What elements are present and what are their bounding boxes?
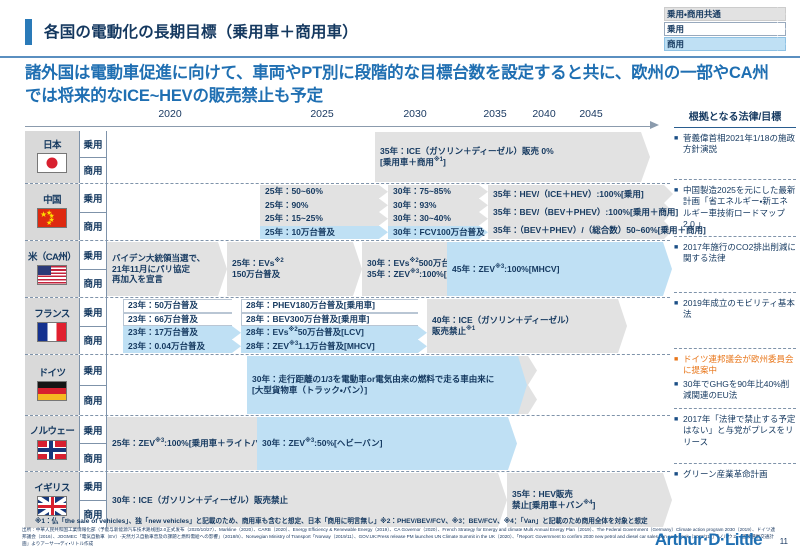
bar-label: 23年：17万台普及: [128, 326, 231, 340]
country-cell: 中国★★★★★: [25, 184, 79, 240]
type-label-commercial: 商用: [80, 158, 106, 184]
target-bar: 28年：EVs※250万台普及[LCV]: [241, 326, 427, 340]
legal-basis-item: ■ドイツ連邦議会が欧州委員会に提案中: [674, 354, 796, 377]
target-bar: 23年：66万台普及: [123, 313, 241, 327]
legal-basis-text: 2017年施行のCO2排出削減に関する法律: [683, 242, 796, 265]
bar-arrow-icon: [418, 340, 427, 354]
legend-item-comm: 商用: [664, 37, 794, 51]
page-title: 各国の電動化の長期目標（乗用車＋商用車）: [44, 20, 358, 42]
bar-label-line: 30年：ZEV※3:50%[ヘビーバン]: [262, 438, 507, 449]
bar-label-line: 23年：66万台普及: [128, 314, 231, 325]
bar-label: 28年：ZEV※31.1万台普及[MHCV]: [246, 340, 417, 354]
bar-label: 35年：（BEV＋PHEV）/（総合数）50~60%[乗用＋商用]: [493, 221, 663, 239]
bar-arrow-icon: [379, 185, 388, 199]
bar-label-line: 30年：75~85%: [393, 186, 478, 197]
target-bar: 28年：PHEV180万台普及[乗用車]: [241, 299, 427, 313]
bar-label: 30年：30~40%: [393, 212, 478, 226]
bar-label: 25年：50~60%: [265, 185, 378, 199]
target-bar: 35年：（BEV＋PHEV）/（総合数）50~60%[乗用＋商用]: [488, 221, 673, 239]
legal-basis-group: ■2017年「法律で禁止する予定はない」と与党がプレスをリリース: [674, 409, 796, 464]
bar-arrow-icon: [479, 212, 488, 226]
type-label-commercial: 商用: [80, 386, 106, 416]
type-label-commercial: 商用: [80, 444, 106, 471]
bar-arrow-icon: [479, 185, 488, 199]
legend-item-common: 乗用・商用共通: [664, 7, 794, 21]
target-bar: 35年：BEV/（BEV＋PHEV）:100%[乗用＋商用]: [488, 203, 673, 221]
flag-icon-fr: [37, 322, 67, 342]
timeline-track: バイデン大統領当選で、21年11月にパリ協定再加入を宣言25年：EVs※2150…: [107, 241, 670, 297]
bar-label-line: 30年：93%: [393, 200, 478, 211]
bar-label: 25年：90%: [265, 199, 378, 213]
flag-icon-gb: [37, 496, 67, 516]
type-label-passenger: 乗用: [80, 131, 106, 158]
axis-arrow-icon: [650, 121, 659, 129]
bar-arrow-icon: [232, 313, 241, 327]
bar-label: 28年：EVs※250万台普及[LCV]: [246, 326, 417, 340]
bar-arrow-icon: [379, 212, 388, 226]
bar-label: 45年：ZEV※3:100%[MHCV]: [452, 242, 662, 296]
bar-arrow-icon: [232, 340, 241, 354]
legend-item-pass: 乗用: [664, 22, 794, 36]
bar-label: 30年：93%: [393, 199, 478, 213]
legal-basis-group: ■ドイツ連邦議会が欧州委員会に提案中■30年でGHGを90年比40%削減関連のE…: [674, 349, 796, 409]
legal-basis-group: ■中国製造2025を元にした最新計画「省エネルギー・新エネルギー車技術ロードマッ…: [674, 180, 796, 237]
bar-label-line: 21年11月にパリ協定: [112, 264, 217, 275]
bar-label: 28年：BEV300万台普及[乗用車]: [246, 313, 417, 327]
bar-label-line: 30年：30~40%: [393, 213, 478, 224]
legal-basis-groups: ■菅義偉首相2021年1/18の施政方針演説■中国製造2025を元にした最新計画…: [674, 128, 796, 519]
flag-icon-no: [37, 440, 67, 460]
bar-label-line: 150万台普及: [232, 269, 352, 280]
bullet-square-icon: ■: [674, 133, 683, 156]
country-name: 中国: [43, 196, 61, 206]
target-bar: 25年：90%: [260, 199, 388, 213]
target-bar: 30年：30~40%: [388, 212, 488, 226]
flag-icon-de: [37, 381, 67, 401]
bar-label-line: 23年：17万台普及: [128, 327, 231, 338]
bar-arrow-icon: [664, 185, 673, 203]
axis-year-2020: 2020: [158, 108, 181, 120]
target-bar: 35年：HEV/（ICE＋HEV）:100%[乗用]: [488, 185, 673, 203]
type-label-passenger: 乗用: [80, 298, 106, 327]
flag-icon-us: [37, 265, 67, 285]
country-row: 日本乗用商用35年：ICE（ガソリン＋ディーゼル）販売 0%[乗用車＋商用※1]: [25, 131, 670, 184]
bar-label: 30年：FCV100万台普及: [393, 226, 478, 240]
country-name: 日本: [43, 141, 61, 151]
bar-arrow-icon: [418, 299, 427, 313]
legend-label: 乗用: [667, 22, 684, 36]
legal-basis-text: 2019年成立のモビリティ基本法: [683, 298, 796, 321]
legend-arrow-icon: [777, 37, 786, 51]
key-message: 諸外国は電動車促進に向けて、車両やPT別に段階的な目標台数を設定すると共に、欧州…: [25, 62, 780, 108]
country-row: 米（CA州）乗用商用バイデン大統領当選で、21年11月にパリ協定再加入を宣言25…: [25, 241, 670, 298]
bar-label-line: [乗用車＋商用※1]: [380, 157, 640, 168]
vehicle-type-cell: 乗用商用: [79, 241, 107, 297]
bar-arrow-icon: [508, 417, 517, 470]
bar-label-line: 25年：EVs※2: [232, 258, 352, 269]
country-cell: フランス: [25, 298, 79, 354]
country-cell: 米（CA州）: [25, 241, 79, 297]
bar-label: 25年：EVs※2150万台普及: [232, 242, 352, 296]
bar-label: 25年：10万台普及: [265, 226, 378, 240]
bullet-square-icon: ■: [674, 354, 683, 377]
bar-arrow-icon: [528, 356, 537, 385]
bar-label-line: 35年：ICE（ガソリン＋ディーゼル）販売 0%: [380, 146, 640, 157]
bar-label: 30年：75~85%: [393, 185, 478, 199]
bar-label-line: 25年：50~60%: [265, 186, 378, 197]
bar-label-line: 再加入を宣言: [112, 274, 217, 285]
legend-arrow-icon: [777, 22, 786, 36]
legal-basis-column: 根拠となる法律/目標 ■菅義偉首相2021年1/18の施政方針演説■中国製造20…: [674, 108, 796, 519]
type-label-commercial: 商用: [80, 327, 106, 355]
axis-year-2035: 2035: [483, 108, 506, 120]
country-name: 米（CA州）: [28, 253, 76, 263]
legal-basis-item: ■30年でGHGを90年比40%削減関連のEU法: [674, 379, 796, 402]
bar-arrow-icon: [528, 385, 537, 414]
timeline-track: 35年：ICE（ガソリン＋ディーゼル）販売 0%[乗用車＋商用※1]: [107, 131, 670, 183]
bar-arrow-icon: [218, 242, 227, 296]
target-bar: 45年：ZEV※3:100%[MHCV]: [447, 242, 672, 296]
flag-icon-cn: ★★★★★: [37, 208, 67, 228]
bar-arrow-icon: [379, 199, 388, 213]
bar-arrow-icon: [518, 356, 527, 414]
header-divider: [0, 56, 800, 58]
target-bar: 28年：BEV300万台普及[乗用車]: [241, 313, 427, 327]
timeline-track: 25年：50~60%25年：90%25年：15~25%25年：10万台普及30年…: [107, 184, 670, 240]
legal-basis-item: ■中国製造2025を元にした最新計画「省エネルギー・新エネルギー車技術ロードマッ…: [674, 185, 796, 231]
bullet-square-icon: ■: [674, 414, 683, 448]
legend-arrow-icon: [777, 7, 786, 21]
bar-label-line: 25年：10万台普及: [265, 227, 378, 238]
bar-label-line: 販売禁止※1: [432, 326, 617, 337]
legal-basis-item: ■菅義偉首相2021年1/18の施政方針演説: [674, 133, 796, 156]
type-label-commercial: 商用: [80, 213, 106, 241]
bar-arrow-icon: [379, 226, 388, 240]
vehicle-type-cell: 乗用商用: [79, 298, 107, 354]
timeline-track: 25年：ZEV※3:100%[乗用車＋ライトバン]30年：ZEV※3:50%[ヘ…: [107, 416, 670, 471]
legal-basis-text: 2017年「法律で禁止する予定はない」と与党がプレスをリリース: [683, 414, 796, 448]
bar-label-line: 30年：FCV100万台普及: [393, 227, 478, 238]
country-name: フランス: [34, 310, 69, 320]
legal-basis-title: 根拠となる法律/目標: [674, 108, 796, 128]
bar-label-line: 35年：HEV/（ICE＋HEV）:100%[乗用]: [493, 189, 663, 200]
bar-label: 23年：66万台普及: [128, 313, 231, 327]
bar-arrow-icon: [618, 299, 627, 353]
bar-arrow-icon: [232, 299, 241, 313]
target-bar: 23年：0.04万台普及: [123, 340, 241, 354]
vehicle-type-cell: 乗用商用: [79, 184, 107, 240]
country-row: ドイツ乗用商用・30年：EVs※2700~1,000万台普及・30年:ICE（ガ…: [25, 355, 670, 416]
country-cell: 日本: [25, 131, 79, 183]
vehicle-type-cell: 乗用商用: [79, 131, 107, 183]
bar-arrow-icon: [232, 326, 241, 340]
target-bar: 25年：EVs※2150万台普及: [227, 242, 362, 296]
legal-basis-item: ■2017年施行のCO2排出削減に関する法律: [674, 242, 796, 265]
bar-arrow-icon: [353, 242, 362, 296]
bar-label-line: 28年：ZEV※31.1万台普及[MHCV]: [246, 341, 417, 352]
vehicle-type-cell: 乗用商用: [79, 416, 107, 471]
bar-label: 25年：15~25%: [265, 212, 378, 226]
flag-icon-jp: [37, 153, 67, 173]
bullet-square-icon: ■: [674, 469, 683, 480]
page-number: 11: [780, 537, 788, 546]
country-name: ノルウェー: [30, 427, 75, 437]
legal-basis-group: ■2019年成立のモビリティ基本法: [674, 293, 796, 349]
legal-basis-text: 中国製造2025を元にした最新計画「省エネルギー・新エネルギー車技術ロードマップ…: [683, 185, 796, 231]
target-bar: 30年：93%: [388, 199, 488, 213]
legal-basis-text: 菅義偉首相2021年1/18の施政方針演説: [683, 133, 796, 156]
type-label-passenger: 乗用: [80, 472, 106, 501]
legal-basis-item: ■グリーン産業革命計画: [674, 469, 796, 480]
bar-label-line: 30年：ICE（ガソリン＋ディーゼル）販売禁止: [112, 495, 497, 506]
footnote-marks: ※1：仏「the sale of vehicles」、独「new vehicle…: [35, 518, 780, 526]
country-row: 中国★★★★★乗用商用25年：50~60%25年：90%25年：15~25%25…: [25, 184, 670, 241]
bullet-square-icon: ■: [674, 379, 683, 402]
country-name: ドイツ: [39, 369, 66, 379]
bar-label: 35年：BEV/（BEV＋PHEV）:100%[乗用＋商用]: [493, 203, 663, 221]
timeline-axis: 202020252030203520402045: [25, 108, 670, 130]
target-bar: 23年：17万台普及: [123, 326, 241, 340]
type-label-passenger: 乗用: [80, 416, 106, 444]
bar-arrow-icon: [663, 242, 672, 296]
axis-year-2045: 2045: [579, 108, 602, 120]
legal-basis-text: 30年でGHGを90年比40%削減関連のEU法: [683, 379, 796, 402]
bar-label: 30年：走行距離の1/3を電動車or電気由来の燃料で走る車由来に[大型貨物車（ト…: [252, 356, 517, 414]
legal-basis-text: グリーン産業革命計画: [683, 469, 768, 480]
country-cell: ドイツ: [25, 355, 79, 415]
bar-label-line: 30年：走行距離の1/3を電動車or電気由来の燃料で走る車由来に: [252, 374, 517, 385]
bar-label-line: 23年：50万台普及: [128, 300, 231, 311]
bar-label-line: 禁止[乗用車＋バン※4]: [512, 500, 662, 511]
bullet-square-icon: ■: [674, 185, 683, 231]
bar-label: 23年：0.04万台普及: [128, 340, 231, 354]
timeline-track: ・30年：EVs※2700~1,000万台普及・30年:ICE（ガソリン＋ディー…: [107, 355, 670, 415]
bar-arrow-icon: [641, 132, 650, 182]
target-bar: 40年：ICE（ガソリン＋ディーゼル）販売禁止※1: [427, 299, 627, 353]
target-bar: 30年：FCV100万台普及: [388, 226, 488, 240]
bar-label-line: 45年：ZEV※3:100%[MHCV]: [452, 264, 662, 275]
bar-label-line: 23年：0.04万台普及: [128, 341, 231, 352]
target-bar: 25年：10万台普及: [260, 226, 388, 240]
legal-basis-text: ドイツ連邦議会が欧州委員会に提案中: [683, 354, 796, 377]
axis-line: [25, 126, 652, 127]
target-bar: 30年：走行距離の1/3を電動車or電気由来の燃料で走る車由来に[大型貨物車（ト…: [247, 356, 527, 414]
bar-label: 35年：ICE（ガソリン＋ディーゼル）販売 0%[乗用車＋商用※1]: [380, 132, 640, 182]
type-label-passenger: 乗用: [80, 241, 106, 270]
bar-label: 28年：PHEV180万台普及[乗用車]: [246, 299, 417, 313]
bar-label-line: [大型貨物車（トラック・バン）]: [252, 385, 517, 396]
country-target-matrix: 日本乗用商用35年：ICE（ガソリン＋ディーゼル）販売 0%[乗用車＋商用※1]…: [25, 131, 670, 528]
bar-label: 23年：50万台普及: [128, 299, 231, 313]
legal-basis-item: ■2017年「法律で禁止する予定はない」と与党がプレスをリリース: [674, 414, 796, 448]
axis-year-2040: 2040: [532, 108, 555, 120]
target-bar: 30年：ZEV※3:50%[ヘビーバン]: [257, 417, 517, 470]
timeline-track: 23年：50万台普及23年：66万台普及23年：17万台普及23年：0.04万台…: [107, 298, 670, 354]
bar-label-line: 40年：ICE（ガソリン＋ディーゼル）: [432, 315, 617, 326]
type-label-passenger: 乗用: [80, 355, 106, 386]
target-bar: 25年：50~60%: [260, 185, 388, 199]
bar-label-line: 25年：90%: [265, 200, 378, 211]
bar-label-line: 35年：HEV販売: [512, 489, 662, 500]
country-row: フランス乗用商用23年：50万台普及23年：66万台普及23年：17万台普及23…: [25, 298, 670, 355]
legend: 乗用・商用共通乗用商用: [664, 7, 794, 52]
legend-label: 乗用・商用共通: [667, 7, 721, 21]
type-label-commercial: 商用: [80, 270, 106, 298]
legal-basis-group: ■2017年施行のCO2排出削減に関する法律: [674, 237, 796, 293]
bar-arrow-icon: [418, 326, 427, 340]
target-bar: 23年：50万台普及: [123, 299, 241, 313]
bar-label-line: 28年：EVs※250万台普及[LCV]: [246, 327, 417, 338]
target-bar: 35年：ICE（ガソリン＋ディーゼル）販売 0%[乗用車＋商用※1]: [375, 132, 650, 182]
bar-label-line: 25年：15~25%: [265, 213, 378, 224]
bar-label: 40年：ICE（ガソリン＋ディーゼル）販売禁止※1: [432, 299, 617, 353]
axis-year-2025: 2025: [310, 108, 333, 120]
target-bar: 28年：ZEV※31.1万台普及[MHCV]: [241, 340, 427, 354]
bar-label: 30年：ZEV※3:50%[ヘビーバン]: [262, 417, 507, 470]
legal-basis-group: ■グリーン産業革命計画: [674, 464, 796, 519]
company-logo: Arthur·D·Little: [655, 530, 762, 550]
axis-year-2030: 2030: [403, 108, 426, 120]
bar-label-line: 35年：BEV/（BEV＋PHEV）:100%[乗用＋商用]: [493, 207, 663, 218]
bar-arrow-icon: [418, 313, 427, 327]
bar-label-line: 28年：PHEV180万台普及[乗用車]: [246, 300, 417, 311]
bar-label-line: 35年：（BEV＋PHEV）/（総合数）50~60%[乗用＋商用]: [493, 225, 663, 236]
legal-basis-group: ■菅義偉首相2021年1/18の施政方針演説: [674, 128, 796, 180]
country-name: イギリス: [34, 484, 70, 494]
legend-label: 商用: [667, 37, 684, 51]
bullet-square-icon: ■: [674, 242, 683, 265]
bar-label: 35年：HEV/（ICE＋HEV）:100%[乗用]: [493, 185, 663, 203]
type-label-passenger: 乗用: [80, 184, 106, 213]
bar-label-line: バイデン大統領当選で、: [112, 253, 217, 264]
target-bar: 30年：75~85%: [388, 185, 488, 199]
country-row: ノルウェー乗用商用25年：ZEV※3:100%[乗用車＋ライトバン]30年：ZE…: [25, 416, 670, 472]
bar-arrow-icon: [479, 199, 488, 213]
vehicle-type-cell: 乗用商用: [79, 355, 107, 415]
legal-basis-item: ■2019年成立のモビリティ基本法: [674, 298, 796, 321]
header-accent-bar: [25, 19, 32, 45]
bar-label: バイデン大統領当選で、21年11月にパリ協定再加入を宣言: [112, 242, 217, 296]
bullet-square-icon: ■: [674, 298, 683, 321]
target-bar: バイデン大統領当選で、21年11月にパリ協定再加入を宣言: [107, 242, 227, 296]
target-bar: 25年：15~25%: [260, 212, 388, 226]
country-cell: ノルウェー: [25, 416, 79, 471]
bar-label-line: 28年：BEV300万台普及[乗用車]: [246, 314, 417, 325]
